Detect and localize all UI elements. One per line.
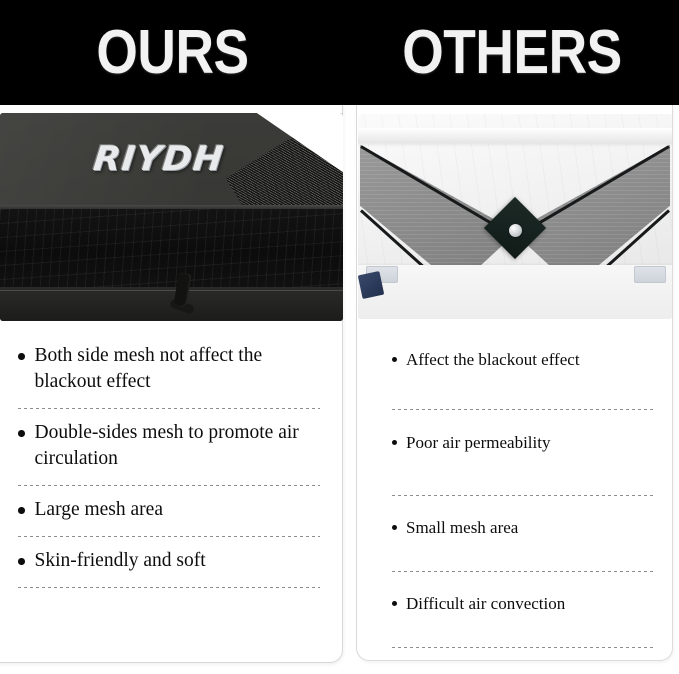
feature-text: Small mesh area (406, 516, 657, 540)
header-title-ours: OURS (24, 0, 321, 105)
ours-feature-list: Both side mesh not affect the blackout e… (18, 335, 323, 591)
feature-text: Skin-friendly and soft (35, 548, 324, 574)
others-hub-button (509, 224, 522, 237)
ours-mesh-window (0, 209, 343, 293)
list-item: Small mesh area (392, 500, 657, 557)
comparison-infographic: OURS OTHERS RIYDH (0, 0, 679, 674)
ours-brand-logo: RIYDH (91, 139, 225, 179)
list-item: Both side mesh not affect the blackout e… (18, 335, 323, 404)
feature-divider (18, 408, 320, 409)
list-item: Poor air permeability (392, 414, 657, 473)
bullet-icon (18, 430, 25, 437)
others-blue-object (358, 271, 384, 299)
feature-divider (18, 536, 320, 537)
feature-text: Poor air permeability (406, 431, 657, 455)
bullet-icon (392, 357, 397, 362)
others-top-beam (358, 128, 672, 143)
header-title-others: OTHERS (368, 0, 655, 105)
bullet-icon (392, 601, 397, 606)
bullet-icon (18, 558, 25, 565)
feature-text: Both side mesh not affect the blackout e… (35, 343, 324, 395)
feature-divider (392, 647, 654, 648)
list-item: Double-sides mesh to promote air circula… (18, 412, 323, 481)
list-item: Large mesh area (18, 489, 323, 532)
feature-divider (18, 587, 320, 588)
bullet-icon (392, 440, 397, 445)
others-side-patch (634, 266, 666, 283)
feature-divider (392, 571, 654, 572)
list-item: Skin-friendly and soft (18, 540, 323, 583)
list-item: Difficult air convection (392, 576, 657, 633)
others-product-photo (358, 114, 672, 319)
feature-divider (18, 485, 320, 486)
feature-divider (392, 409, 654, 410)
feature-text: Double-sides mesh to promote air circula… (35, 420, 324, 472)
others-tent-floor (358, 265, 672, 319)
ours-photo-corner-crop (251, 113, 343, 175)
others-feature-list: Affect the blackout effect Poor air perm… (392, 338, 657, 652)
bullet-icon (392, 525, 397, 530)
bullet-icon (18, 507, 25, 514)
feature-text: Large mesh area (35, 497, 324, 523)
feature-text: Difficult air convection (406, 592, 657, 616)
list-item: Affect the blackout effect (392, 338, 657, 383)
feature-text: Affect the blackout effect (406, 348, 657, 372)
feature-divider (392, 495, 654, 496)
bullet-icon (18, 353, 25, 360)
